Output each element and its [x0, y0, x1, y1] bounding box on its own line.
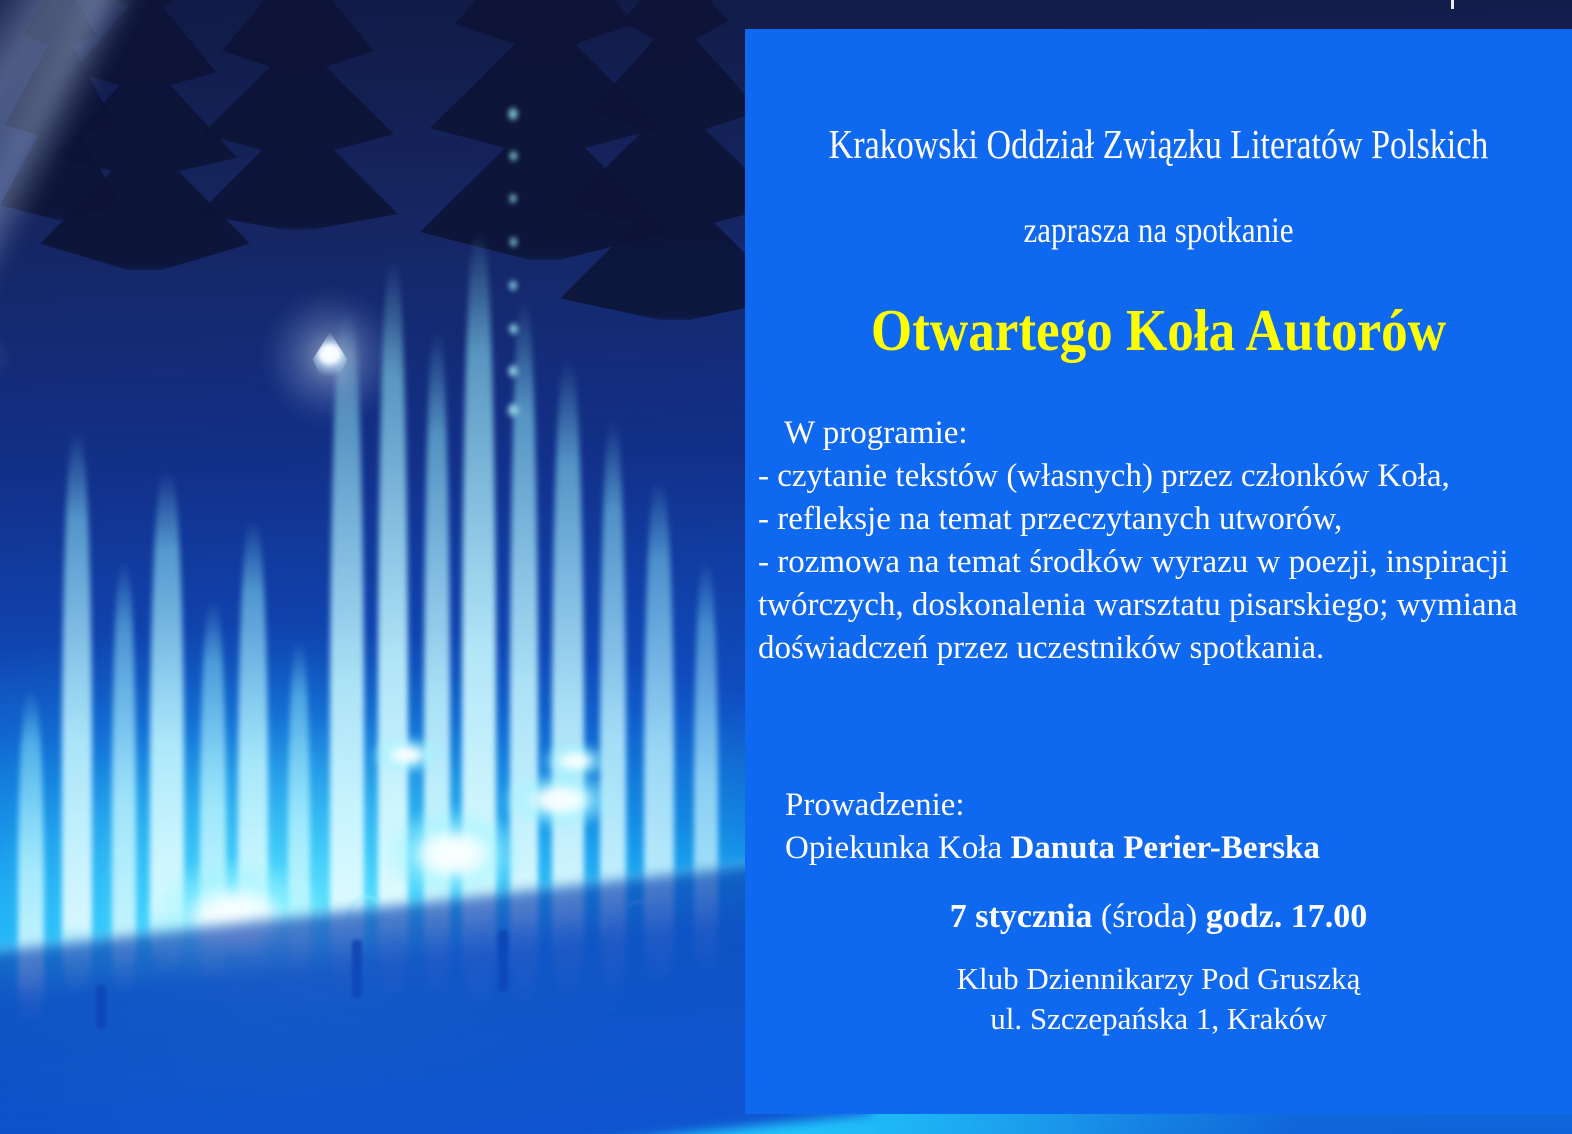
venue-name: Klub Dziennikarzy Pod Gruszką	[745, 959, 1572, 999]
event-date: 7 stycznia	[950, 898, 1093, 935]
leadership-role: Opiekunka Koła	[785, 830, 1002, 866]
program-heading-text: W programie:	[784, 415, 968, 451]
datetime-line: 7 stycznia (środa) godz. 17.00	[745, 896, 1572, 939]
program-block: W programie: - czytanie tekstów (własnyc…	[758, 412, 1558, 670]
program-item: - czytanie tekstów (własnych) przez czło…	[758, 455, 1558, 498]
water-splash-highlight	[370, 735, 444, 775]
program-item: - rozmowa na temat środków wyrazu w poez…	[758, 541, 1558, 670]
event-weekday: (środa)	[1101, 898, 1197, 935]
event-time: godz. 17.00	[1206, 898, 1368, 935]
fountain-jet	[112, 560, 136, 990]
organizer-line: Krakowski Oddział Związku Literatów Pols…	[815, 124, 1501, 165]
invitation-line: zaprasza na spotkanie	[803, 212, 1514, 248]
venue-address: ul. Szczepańska 1, Kraków	[745, 999, 1572, 1039]
tree-silhouette-icon	[198, 0, 398, 230]
venue-block: Klub Dziennikarzy Pod Gruszką ul. Szczep…	[745, 959, 1572, 1039]
invitation-panel: Krakowski Oddział Związku Literatów Pols…	[745, 29, 1572, 1114]
leadership-person-line: Opiekunka Koła Danuta Perier-Berska	[785, 827, 1565, 870]
fountain-jet	[62, 430, 92, 990]
leadership-person: Danuta Perier-Berska	[1010, 830, 1319, 866]
leadership-block: Prowadzenie: Opiekunka Koła Danuta Perie…	[785, 784, 1565, 870]
leadership-label: Prowadzenie:	[785, 784, 1565, 827]
program-heading: W programie:	[758, 412, 1558, 455]
poster: Krakowski Oddział Związku Literatów Pols…	[0, 0, 1572, 1134]
water-splash-highlight	[540, 742, 610, 780]
cursor-artifact	[1451, 0, 1454, 9]
page-title: Otwartego Koła Autorów	[786, 301, 1530, 360]
program-item: - refleksje na temat przeczytanych utwor…	[758, 498, 1558, 541]
